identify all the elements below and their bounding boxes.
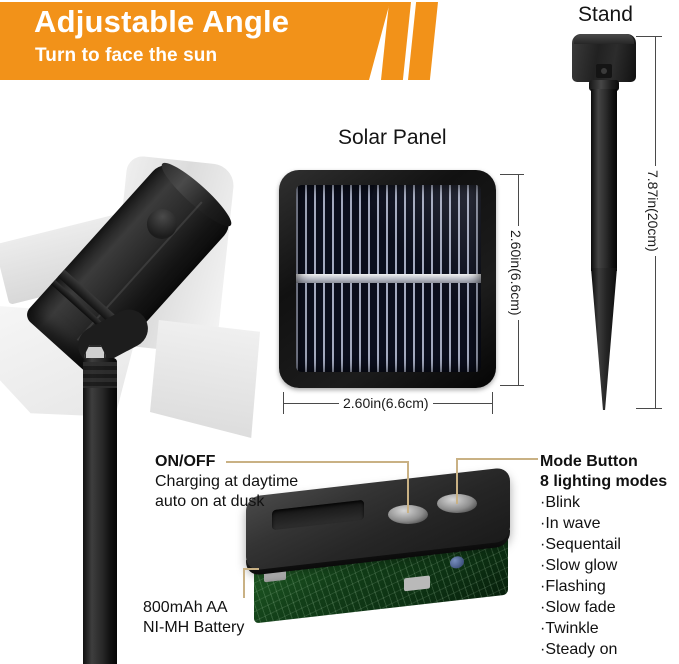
leader-battery-horizontal: [243, 568, 259, 570]
lamp-pole: [83, 358, 117, 664]
battery-line-2: NI-MH Battery: [143, 618, 244, 638]
dim-ext-top: [500, 174, 524, 175]
stand-head-top-face: [574, 34, 634, 44]
lighting-mode-item: ·Flashing: [540, 576, 667, 597]
dim-ext-stand-bottom: [636, 408, 662, 409]
lighting-mode-item: ·Slow fade: [540, 597, 667, 618]
lighting-mode-item: ·Slow glow: [540, 555, 667, 576]
dim-ext-bottom: [500, 385, 524, 386]
lamp-ghost-position-d: [150, 320, 260, 438]
solar-inner-shadow: [296, 185, 481, 372]
banner-stripe-2: [408, 2, 438, 80]
onoff-line-2: auto on at dusk: [155, 492, 298, 512]
battery-line-1: 800mAh AA: [143, 598, 244, 618]
banner-slant-edge: [330, 2, 390, 80]
stand-tube: [591, 89, 617, 271]
dim-label-solar-height: 2.60in(6.6cm): [506, 226, 526, 320]
onoff-callout: ON/OFF Charging at daytime auto on at du…: [155, 452, 298, 512]
solar-panel: [279, 170, 496, 388]
battery-callout: 800mAh AA NI-MH Battery: [143, 598, 244, 638]
lighting-mode-item: ·Twinkle: [540, 618, 667, 639]
mode-subtitle: 8 lighting modes: [540, 472, 667, 492]
lighting-modes-list: ·Blink·In wave·Sequentail·Slow glow·Flas…: [540, 492, 667, 660]
stand-heading: Stand: [578, 3, 633, 27]
mode-title: Mode Button: [540, 452, 667, 472]
mode-callout: Mode Button 8 lighting modes ·Blink·In w…: [540, 452, 667, 660]
stand-notch-dot: [601, 68, 607, 74]
leader-battery-vertical: [243, 568, 245, 598]
onoff-line-1: Charging at daytime: [155, 472, 298, 492]
stand-ground-spike: [591, 268, 617, 410]
lamp-pole-collar: [83, 362, 117, 388]
onoff-title: ON/OFF: [155, 452, 298, 472]
banner-subtitle: Turn to face the sun: [35, 45, 217, 67]
product-infographic: Adjustable Angle Turn to face the sun So…: [0, 0, 679, 664]
leader-onoff-vertical: [407, 461, 409, 513]
leader-mode-horizontal: [456, 458, 538, 460]
solar-panel-heading: Solar Panel: [338, 126, 447, 150]
lighting-mode-item: ·Sequentail: [540, 534, 667, 555]
leader-mode-vertical: [456, 458, 458, 504]
lighting-mode-item: ·In wave: [540, 513, 667, 534]
banner-title: Adjustable Angle: [34, 4, 289, 40]
dim-ext-stand-top: [636, 36, 662, 37]
dim-label-stand-height: 7.87in(20cm): [643, 166, 663, 256]
dim-label-solar-width: 2.60in(6.6cm): [339, 395, 433, 411]
solar-cell-area: [296, 185, 481, 372]
lighting-mode-item: ·Steady on: [540, 639, 667, 660]
lighting-mode-item: ·Blink: [540, 492, 667, 513]
